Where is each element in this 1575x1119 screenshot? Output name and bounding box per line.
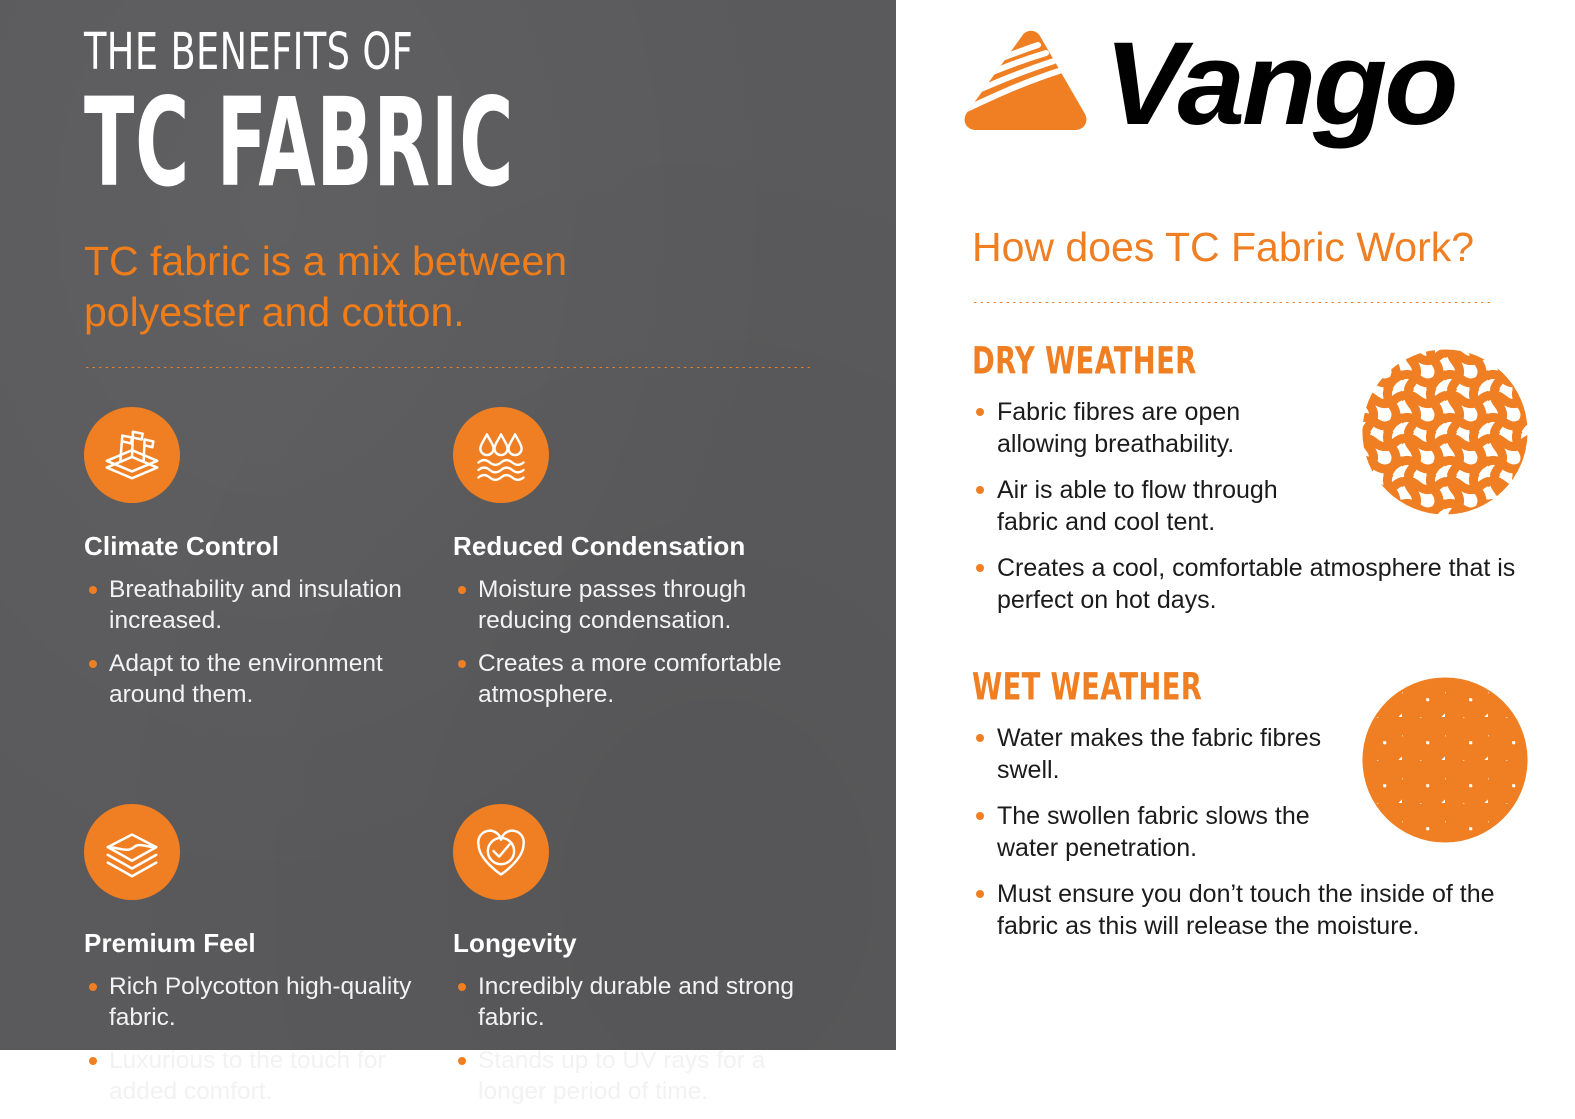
section-dry-weather: DRY WEATHER Fabric fibres are open allow… [972,342,1531,616]
benefit-card-climate-control: Climate Control Breathability and insula… [84,407,453,722]
bullet-item: Luxurious to the touch for added comfort… [84,1045,453,1107]
benefit-bullets: Rich Polycotton high-quality fabric. Lux… [84,971,453,1107]
section-wet-weather: WET WEATHER Water makes the fabric fibre… [972,668,1531,942]
bullet-item: Water makes the fabric fibres swell. [972,722,1327,786]
left-grey-panel: THE BENEFITS OF TC FABRIC TC fabric is a… [0,0,896,1050]
vango-logo: Vango [954,22,1554,147]
bullet-item: Must ensure you don’t touch the inside o… [972,878,1517,942]
logo-wordmark: Vango [1104,16,1455,152]
divider-dotted-right [972,301,1492,304]
page-title: TC FABRIC [84,86,689,201]
vango-tent-triangle-icon [954,22,1104,140]
benefit-bullets: Moisture passes through reducing condens… [453,574,822,710]
layers-airflow-icon [84,407,180,503]
bullet-item: Air is able to flow through fabric and c… [972,474,1327,538]
benefit-heading: Premium Feel [84,928,453,959]
bullet-item: Breathability and insulation increased. [84,574,453,636]
benefit-card-reduced-condensation: Reduced Condensation Moisture passes thr… [453,407,822,722]
bullet-item: Rich Polycotton high-quality fabric. [84,971,453,1033]
benefits-grid: Climate Control Breathability and insula… [84,407,822,1119]
benefit-heading: Reduced Condensation [453,531,822,562]
benefits-row: Climate Control Breathability and insula… [84,407,822,722]
stacked-layers-icon [84,804,180,900]
section-bullets: Fabric fibres are open allowing breathab… [972,396,1531,616]
benefit-bullets: Incredibly durable and strong fabric. St… [453,971,822,1107]
bullet-item: The swollen fabric slows the water penet… [972,800,1327,864]
benefit-heading: Climate Control [84,531,453,562]
bullet-item: Incredibly durable and strong fabric. [453,971,822,1033]
benefit-heading: Longevity [453,928,822,959]
right-panel-title: How does TC Fabric Work? [972,222,1531,273]
bullet-item: Fabric fibres are open allowing breathab… [972,396,1327,460]
bullet-item: Moisture passes through reducing condens… [453,574,822,636]
benefits-row: Premium Feel Rich Polycotton high-qualit… [84,804,822,1119]
bullet-item: Creates a cool, comfortable atmosphere t… [972,552,1517,616]
bullet-item: Creates a more comfortable atmosphere. [453,648,822,710]
divider-dotted [84,366,810,369]
water-droplets-waves-icon [453,407,549,503]
bullet-item: Adapt to the environment around them. [84,648,453,710]
bullet-item: Stands up to UV rays for a longer period… [453,1045,822,1107]
benefit-card-longevity: Longevity Incredibly durable and strong … [453,804,822,1119]
infographic-page: THE BENEFITS OF TC FABRIC TC fabric is a… [0,0,1575,1050]
heart-check-icon [453,804,549,900]
benefit-bullets: Breathability and insulation increased. … [84,574,453,710]
subtitle: TC fabric is a mix between polyester and… [84,236,664,338]
benefit-card-premium-feel: Premium Feel Rich Polycotton high-qualit… [84,804,453,1119]
right-white-panel: Vango How does TC Fabric Work? [896,0,1575,1050]
section-bullets: Water makes the fabric fibres swell. The… [972,722,1531,942]
